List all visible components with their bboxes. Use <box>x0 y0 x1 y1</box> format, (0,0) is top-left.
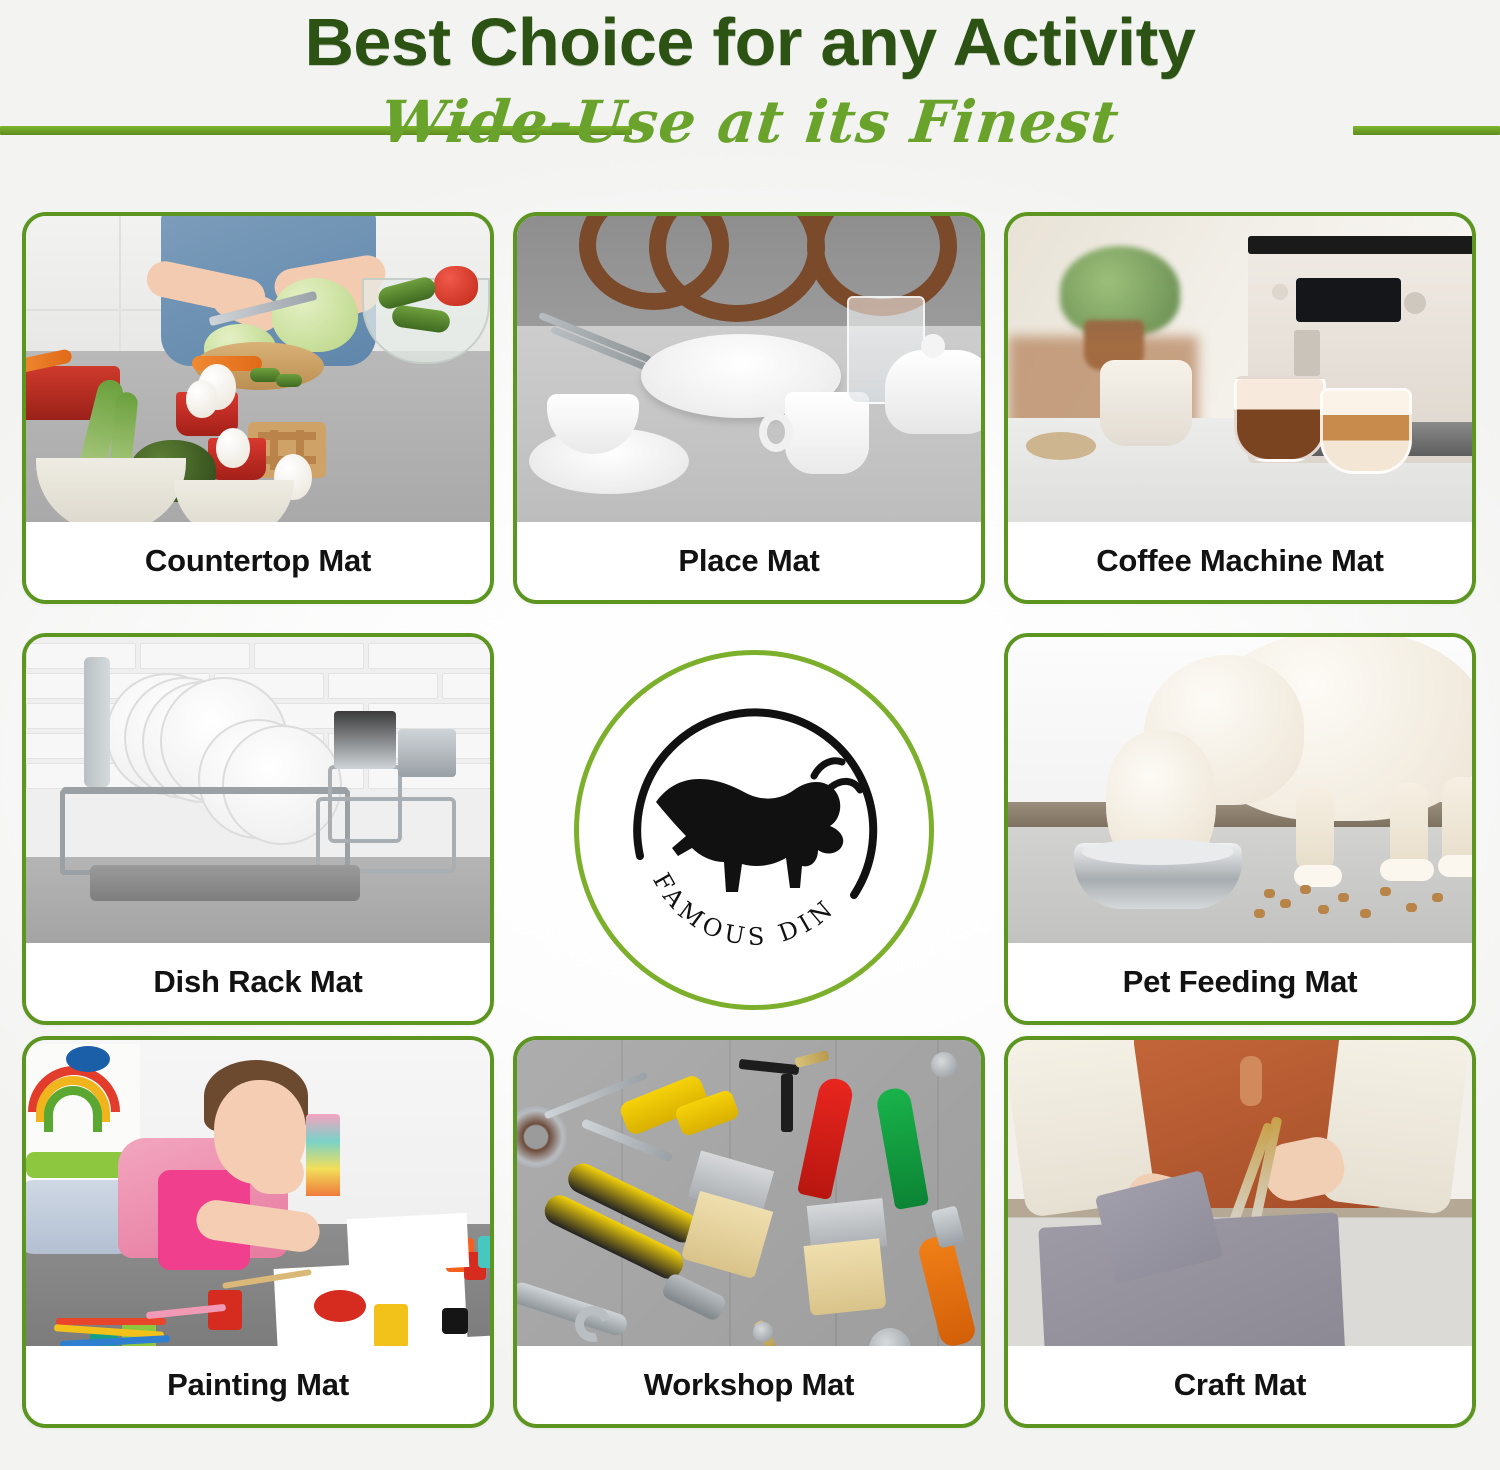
photo-dish-rack-plates-brick-wall <box>26 637 490 943</box>
card-pet-feeding-mat[interactable]: Pet Feeding Mat <box>1004 633 1476 1025</box>
card-countertop-mat[interactable]: Countertop Mat <box>22 212 494 604</box>
dino-logo-icon: FAMOUS DINO <box>604 680 904 980</box>
card-label-countertop-mat: Countertop Mat <box>26 522 490 600</box>
card-label-pet-feeding-mat: Pet Feeding Mat <box>1008 943 1472 1021</box>
photo-white-dishware-table-setting <box>517 216 981 522</box>
photo-dog-eating-from-steel-bowl <box>1008 637 1472 943</box>
card-label-place-mat: Place Mat <box>517 522 981 600</box>
card-place-mat[interactable]: Place Mat <box>513 212 985 604</box>
card-label-craft-mat: Craft Mat <box>1008 1346 1472 1424</box>
feature-grid: Countertop Mat Place Mat <box>0 0 1500 1470</box>
card-label-coffee-machine-mat: Coffee Machine Mat <box>1008 522 1472 600</box>
famous-dino-logo: FAMOUS DINO <box>574 650 934 1010</box>
card-workshop-mat[interactable]: Workshop Mat <box>513 1036 985 1428</box>
photo-hands-cutting-gray-fabric <box>1008 1040 1472 1346</box>
card-label-painting-mat: Painting Mat <box>26 1346 490 1424</box>
photo-kitchen-cutting-vegetables <box>26 216 490 522</box>
card-dish-rack-mat[interactable]: Dish Rack Mat <box>22 633 494 1025</box>
photo-espresso-machine-two-cups <box>1008 216 1472 522</box>
card-coffee-machine-mat[interactable]: Coffee Machine Mat <box>1004 212 1476 604</box>
card-craft-mat[interactable]: Craft Mat <box>1004 1036 1476 1428</box>
card-label-workshop-mat: Workshop Mat <box>517 1346 981 1424</box>
photo-girl-painting-on-floor <box>26 1040 490 1346</box>
photo-tools-flatlay-brushes-pliers <box>517 1040 981 1346</box>
card-painting-mat[interactable]: Painting Mat <box>22 1036 494 1428</box>
card-label-dish-rack-mat: Dish Rack Mat <box>26 943 490 1021</box>
